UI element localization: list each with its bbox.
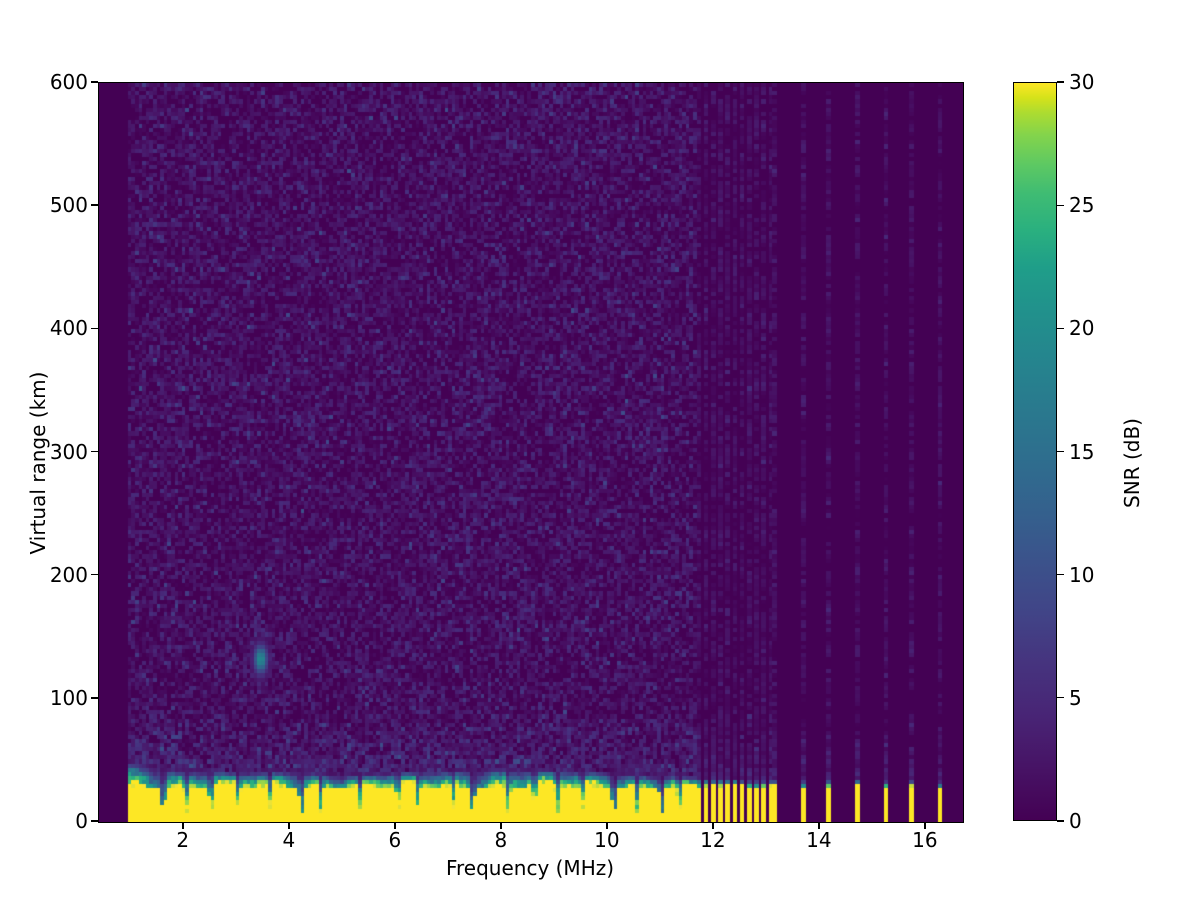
x-tick-label: 14 — [806, 828, 831, 852]
x-tick-label: 16 — [912, 828, 937, 852]
y-tick-label: 0 — [75, 809, 88, 833]
x-axis-label: Frequency (MHz) — [98, 856, 962, 880]
x-tick-label: 12 — [700, 828, 725, 852]
y-tick-label: 600 — [50, 70, 88, 94]
y-tick-mark — [91, 697, 98, 698]
y-tick-label: 200 — [50, 563, 88, 587]
x-tick-label: 2 — [176, 828, 189, 852]
colorbar-label: SNR (dB) — [1120, 363, 1144, 563]
x-tick-label: 8 — [494, 828, 507, 852]
y-tick-mark — [91, 820, 98, 821]
colorbar-tick-label: 30 — [1069, 70, 1094, 94]
y-tick-label: 400 — [50, 316, 88, 340]
colorbar-tick-label: 5 — [1069, 686, 1082, 710]
y-tick-mark — [91, 451, 98, 452]
colorbar-tick-mark — [1057, 451, 1064, 452]
x-tick-label: 4 — [282, 828, 295, 852]
colorbar-tick-mark — [1057, 205, 1064, 206]
colorbar-tick-label: 25 — [1069, 193, 1094, 217]
colorbar-tick-label: 15 — [1069, 440, 1094, 464]
colorbar-tick-label: 20 — [1069, 316, 1094, 340]
colorbar-tick-mark — [1057, 697, 1064, 698]
colorbar-gradient — [1013, 82, 1057, 821]
y-tick-label: 100 — [50, 686, 88, 710]
colorbar-tick-mark — [1057, 820, 1064, 821]
colorbar-tick-mark — [1057, 574, 1064, 575]
y-tick-mark — [91, 81, 98, 82]
y-axis-label: Virtual range (km) — [26, 363, 50, 563]
colorbar-tick-label: 0 — [1069, 809, 1082, 833]
x-tick-label: 10 — [594, 828, 619, 852]
y-tick-label: 500 — [50, 193, 88, 217]
y-tick-mark — [91, 204, 98, 205]
ionogram-figure: IRF Kiruna Ionosonde KI167 2025-12-05 00… — [0, 0, 1200, 900]
y-tick-mark — [91, 574, 98, 575]
colorbar — [1013, 82, 1057, 821]
colorbar-tick-mark — [1057, 81, 1064, 82]
x-tick-label: 6 — [388, 828, 401, 852]
plot-area — [98, 82, 964, 823]
y-tick-label: 300 — [50, 440, 88, 464]
colorbar-tick-mark — [1057, 328, 1064, 329]
ionogram-heatmap — [99, 83, 963, 822]
colorbar-tick-label: 10 — [1069, 563, 1094, 587]
y-tick-mark — [91, 328, 98, 329]
